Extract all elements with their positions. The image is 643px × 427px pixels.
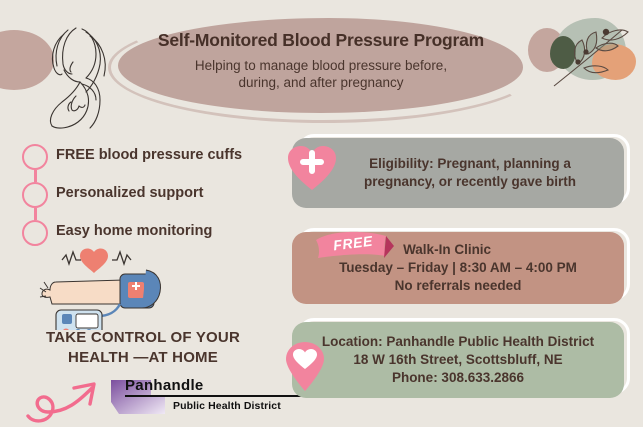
page-title: Self-Monitored Blood Pressure Program He… — [130, 30, 512, 92]
cta-line2: HEALTH —AT HOME — [28, 348, 258, 368]
eligibility-line2: pregnancy, or recently gave birth — [364, 173, 576, 191]
blood-pressure-monitor-icon — [32, 248, 168, 330]
card-text: Location: Panhandle Public Health Distri… — [310, 333, 606, 387]
location-line3: Phone: 308.633.2866 — [322, 369, 594, 387]
benefit-label: Easy home monitoring — [56, 223, 212, 239]
map-pin-heart-icon — [284, 340, 326, 392]
title-subtitle-line2: during, and after pregnancy — [130, 74, 512, 91]
bullet-connector — [34, 170, 37, 182]
call-to-action: TAKE CONTROL OF YOUR HEALTH —AT HOME — [28, 328, 258, 367]
benefit-label: FREE blood pressure cuffs — [56, 147, 242, 163]
botanical-branch-icon — [548, 8, 640, 90]
clinic-line3: No referrals needed — [339, 277, 577, 295]
eligibility-card: Eligibility: Pregnant, planning a pregna… — [292, 138, 624, 208]
pregnant-woman-icon — [24, 12, 144, 132]
location-card: Location: Panhandle Public Health Distri… — [292, 322, 624, 398]
card-text: Eligibility: Pregnant, planning a pregna… — [324, 155, 592, 191]
heart-plus-icon — [286, 144, 338, 192]
free-badge: FREE — [314, 230, 400, 264]
bullet-circle-icon — [22, 144, 48, 170]
title-subtitle: Helping to manage blood pressure before,… — [130, 57, 512, 92]
benefit-label: Personalized support — [56, 185, 203, 201]
logo-name: Panhandle — [125, 377, 302, 397]
location-line2: 18 W 16th Street, Scottsbluff, NE — [322, 351, 594, 369]
bullet-connector — [34, 208, 37, 220]
card-body: Eligibility: Pregnant, planning a pregna… — [292, 138, 624, 208]
title-main: Self-Monitored Blood Pressure Program — [130, 30, 512, 51]
walk-in-clinic-card: Walk-In Clinic Tuesday – Friday | 8:30 A… — [292, 232, 624, 304]
eligibility-line1: Eligibility: Pregnant, planning a — [364, 155, 576, 173]
title-subtitle-line1: Helping to manage blood pressure before, — [130, 57, 512, 74]
cta-line1: TAKE CONTROL OF YOUR — [28, 328, 258, 348]
flyer-canvas: Self-Monitored Blood Pressure Program He… — [0, 0, 643, 427]
bullet-circle-icon — [22, 220, 48, 246]
curly-arrow-icon — [22, 372, 110, 424]
location-line1: Location: Panhandle Public Health Distri… — [322, 333, 594, 351]
card-body: Location: Panhandle Public Health Distri… — [292, 322, 624, 398]
logo-subtitle: Public Health District — [173, 400, 281, 412]
bullet-circle-icon — [22, 182, 48, 208]
organization-logo: Panhandle Public Health District — [105, 376, 295, 420]
